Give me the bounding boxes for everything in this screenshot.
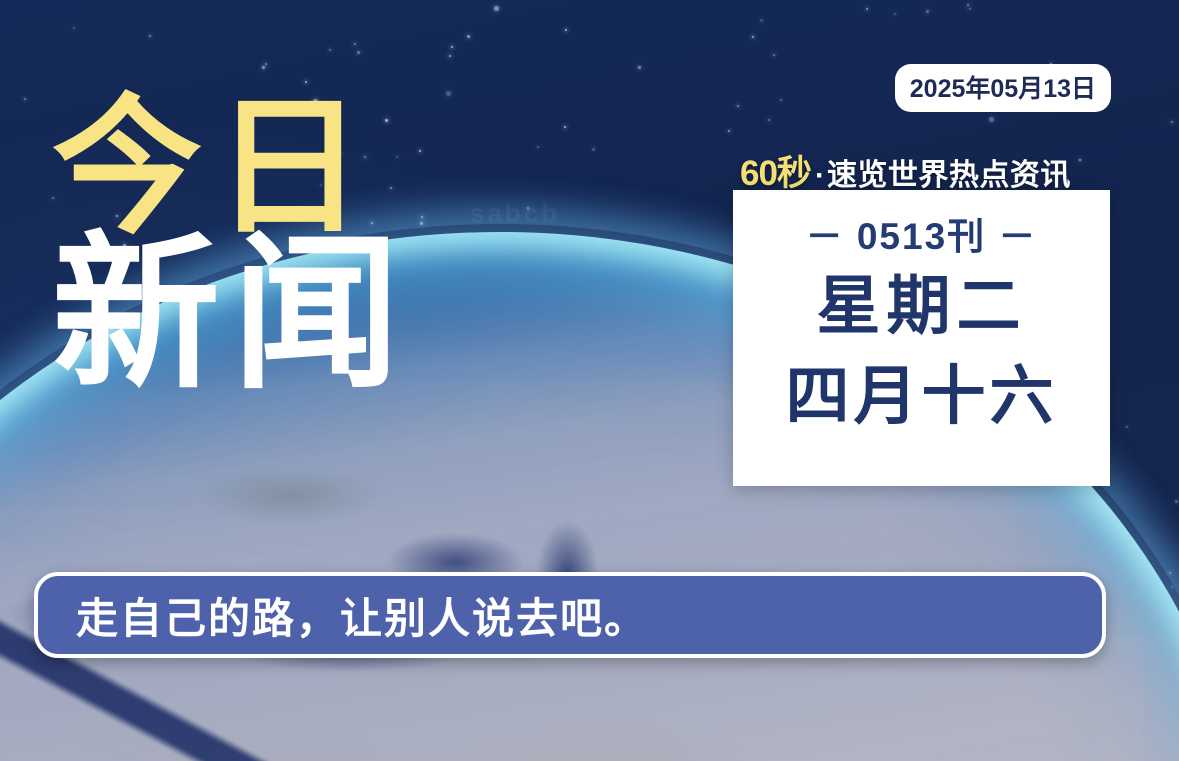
tagline-seconds: 60秒 bbox=[740, 154, 811, 193]
quote-text: 走自己的路，让别人说去吧。 bbox=[38, 585, 648, 646]
lunar-date-label: 四月十六 bbox=[786, 364, 1058, 428]
tagline-text: 速览世界热点资讯 bbox=[827, 159, 1071, 192]
poster-title: 今日 新闻 bbox=[52, 96, 412, 395]
issue-number: － 0513刊 － bbox=[806, 206, 1038, 260]
weekday-label: 星期二 bbox=[817, 274, 1027, 338]
date-badge: 2025年05月13日 bbox=[895, 64, 1111, 112]
news-poster: 今日 新闻 sabcb 2025年05月13日 60秒·速览世界热点资讯 － 0… bbox=[0, 0, 1179, 761]
tagline: 60秒·速览世界热点资讯 bbox=[740, 145, 1110, 196]
watermark-text: sabcb bbox=[470, 198, 560, 229]
info-card: － 0513刊 － 星期二 四月十六 bbox=[733, 190, 1110, 486]
quote-bar: 走自己的路，让别人说去吧。 bbox=[34, 572, 1106, 658]
tagline-separator: · bbox=[815, 159, 825, 192]
title-line-xinwen: 新闻 bbox=[52, 234, 412, 395]
